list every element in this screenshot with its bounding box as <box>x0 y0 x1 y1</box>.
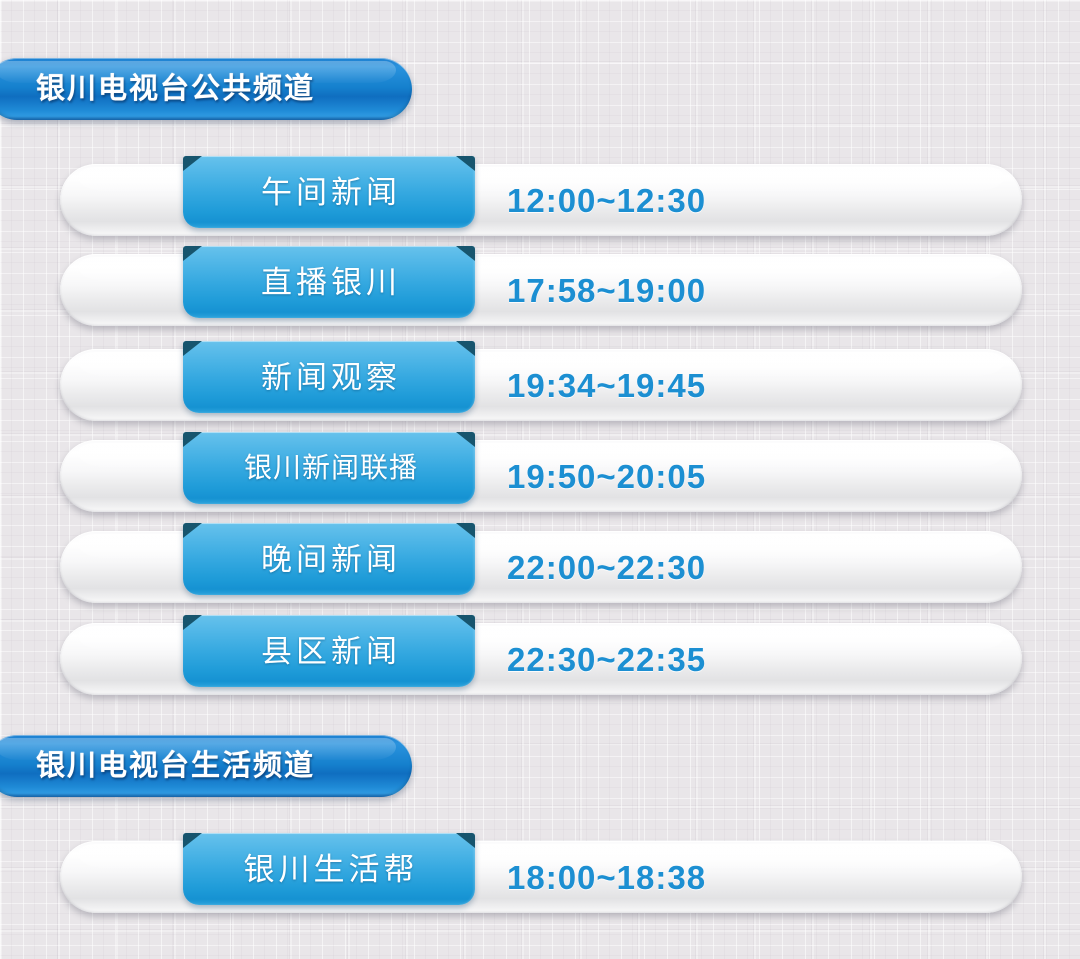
program-row[interactable]: 直播银川 17:58~19:00 <box>60 254 1022 326</box>
fold-corner-right-icon <box>456 156 475 171</box>
program-row[interactable]: 新闻观察 19:34~19:45 <box>60 349 1022 421</box>
channel-header-public: 银川电视台公共频道 <box>0 58 412 120</box>
channel-header-life: 银川电视台生活频道 <box>0 735 412 797</box>
program-time: 22:00~22:30 <box>507 531 706 603</box>
program-name: 银川生活帮 <box>240 854 419 885</box>
fold-corner-left-icon <box>183 156 202 171</box>
fold-corner-left-icon <box>183 341 202 356</box>
program-row[interactable]: 银川新闻联播 19:50~20:05 <box>60 440 1022 512</box>
program-name: 直播银川 <box>257 267 401 298</box>
fold-corner-left-icon <box>183 246 202 261</box>
fold-corner-left-icon <box>183 833 202 848</box>
program-name: 县区新闻 <box>257 636 401 667</box>
program-time: 22:30~22:35 <box>507 623 706 695</box>
program-schedule-page: 银川电视台公共频道 午间新闻 12:00~12:30 直播银川 17:58~19… <box>0 0 1080 959</box>
program-time: 18:00~18:38 <box>507 841 706 913</box>
fold-corner-right-icon <box>456 432 475 447</box>
program-name-tag[interactable]: 直播银川 <box>183 246 475 318</box>
program-name-tag[interactable]: 银川生活帮 <box>183 833 475 905</box>
program-name: 晚间新闻 <box>257 544 401 575</box>
fold-corner-right-icon <box>456 523 475 538</box>
program-time: 19:34~19:45 <box>507 349 706 421</box>
program-time: 12:00~12:30 <box>507 164 706 236</box>
fold-corner-left-icon <box>183 432 202 447</box>
fold-corner-right-icon <box>456 246 475 261</box>
channel-title: 银川电视台生活频道 <box>36 752 315 781</box>
program-name-tag[interactable]: 县区新闻 <box>183 615 475 687</box>
program-row[interactable]: 晚间新闻 22:00~22:30 <box>60 531 1022 603</box>
program-row[interactable]: 县区新闻 22:30~22:35 <box>60 623 1022 695</box>
fold-corner-right-icon <box>456 341 475 356</box>
program-name-tag[interactable]: 午间新闻 <box>183 156 475 228</box>
program-time: 19:50~20:05 <box>507 440 706 512</box>
channel-title: 银川电视台公共频道 <box>36 75 315 104</box>
fold-corner-left-icon <box>183 615 202 630</box>
program-row[interactable]: 银川生活帮 18:00~18:38 <box>60 841 1022 913</box>
program-time: 17:58~19:00 <box>507 254 706 326</box>
program-name-tag[interactable]: 银川新闻联播 <box>183 432 475 504</box>
program-name: 银川新闻联播 <box>240 454 418 482</box>
program-name: 午间新闻 <box>257 177 401 208</box>
program-row[interactable]: 午间新闻 12:00~12:30 <box>60 164 1022 236</box>
program-name: 新闻观察 <box>257 362 401 393</box>
program-name-tag[interactable]: 晚间新闻 <box>183 523 475 595</box>
fold-corner-left-icon <box>183 523 202 538</box>
fold-corner-right-icon <box>456 615 475 630</box>
program-name-tag[interactable]: 新闻观察 <box>183 341 475 413</box>
fold-corner-right-icon <box>456 833 475 848</box>
